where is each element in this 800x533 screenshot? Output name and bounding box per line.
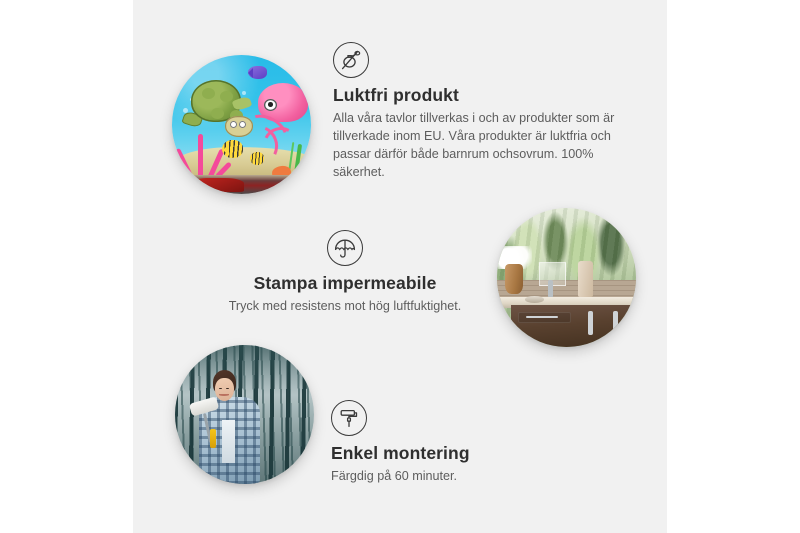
cabinet-handle	[613, 311, 618, 335]
feature-description: Färgdig på 60 minuter.	[331, 468, 581, 486]
vase	[505, 264, 523, 295]
no-odour-spray-bottle-icon	[333, 42, 369, 78]
paint-roller-icon	[331, 400, 367, 436]
feature-description: Alla våra tavlor tillverkas i och av pro…	[333, 110, 617, 182]
feature-block-waterproof: Stampa impermeabile Tryck med resistens …	[200, 230, 490, 316]
scene-foreground-strip	[172, 175, 311, 194]
screenshot-root: Luktfri produkt Alla våra tavlor tillver…	[0, 0, 800, 533]
soap-dish	[525, 296, 544, 303]
eye	[219, 388, 222, 390]
soap-bottle	[578, 261, 593, 297]
drawer-handle	[526, 316, 559, 318]
feature-title: Enkel montering	[331, 443, 581, 464]
forest-scene-art	[175, 345, 314, 484]
octopus-eye	[264, 99, 277, 111]
shirt-front	[222, 420, 235, 463]
product-photo-underwater-scene[interactable]	[172, 55, 311, 194]
eye	[226, 388, 229, 390]
product-photo-woman-forest-wallpaper[interactable]	[175, 345, 314, 484]
yellow-tool	[210, 429, 216, 447]
icon-wrap	[333, 42, 623, 78]
bubble	[242, 91, 246, 95]
feature-title: Luktfri produkt	[333, 85, 623, 106]
purple-fish	[248, 66, 266, 79]
cabinet-handle	[588, 311, 593, 335]
yellow-fish	[222, 140, 243, 158]
feature-title: Stampa impermeabile	[200, 273, 490, 294]
feature-block-odourless: Luktfri produkt Alla våra tavlor tillver…	[333, 42, 623, 182]
wooden-vanity	[511, 305, 636, 347]
bathroom-scene-art	[497, 208, 636, 347]
face	[215, 378, 234, 401]
feature-block-easy-assembly: Enkel montering Färgdig på 60 minuter.	[331, 400, 581, 486]
woman-decorator	[194, 370, 264, 484]
icon-wrap	[331, 400, 581, 436]
underwater-scene-art	[172, 55, 311, 194]
umbrella-icon	[327, 230, 363, 266]
icon-wrap	[200, 230, 490, 266]
faucet	[548, 280, 552, 298]
feature-description: Tryck med resistens mot hög luftfuktighe…	[200, 298, 490, 316]
product-photo-bathroom-botanical[interactable]	[497, 208, 636, 347]
yellow-fish	[250, 152, 264, 165]
